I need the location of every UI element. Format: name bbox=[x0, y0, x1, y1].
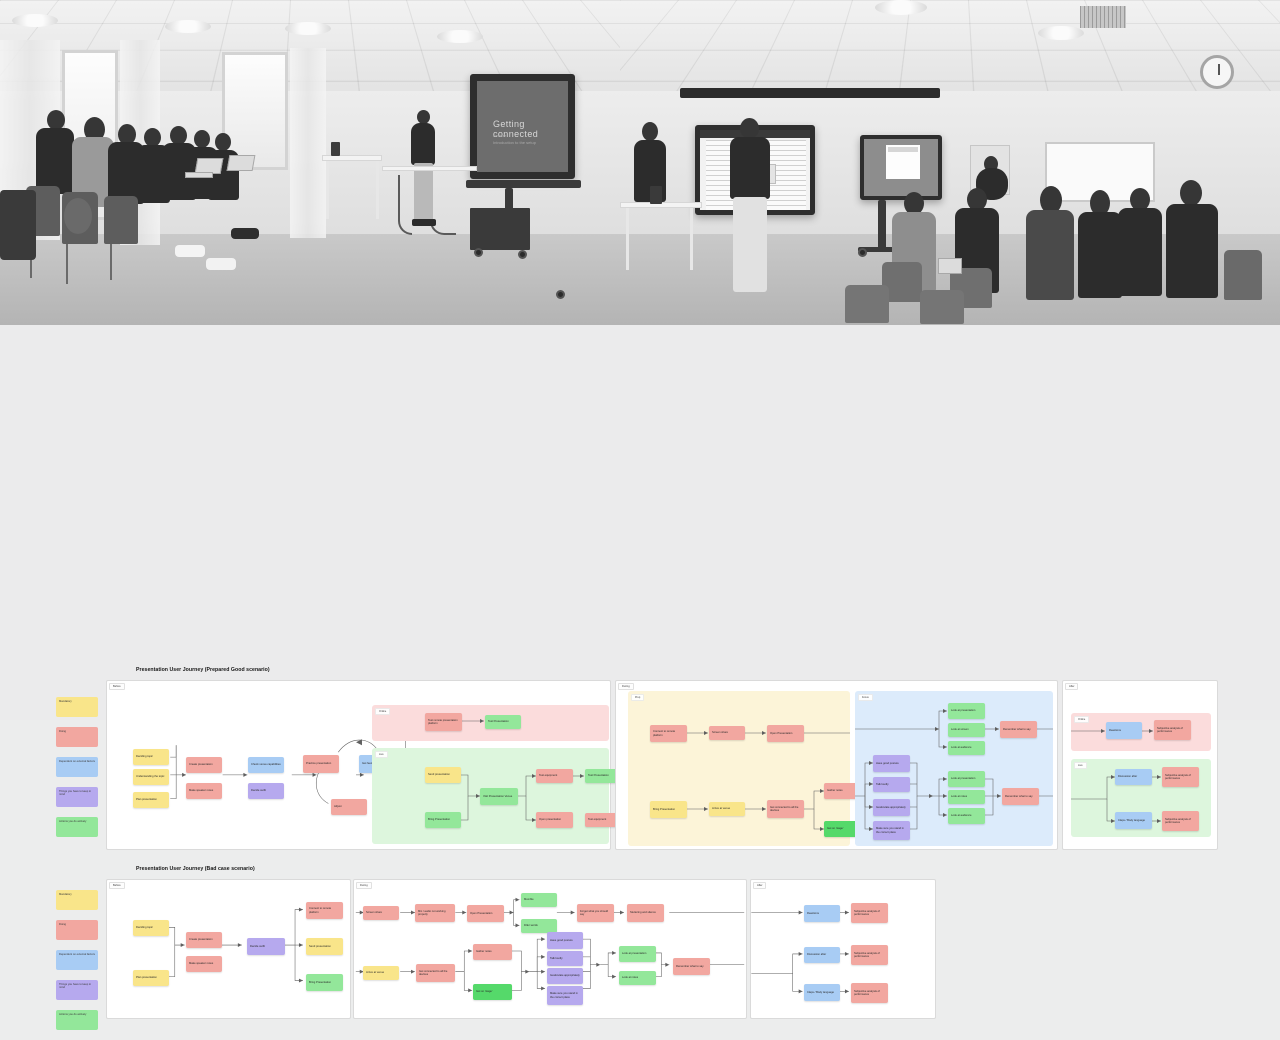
node-screen-share[interactable]: Screen share bbox=[363, 906, 399, 920]
node-subjective-analysis[interactable]: Subjective analysis of performance bbox=[1162, 811, 1199, 831]
node-claps-body-language[interactable]: Claps / Body language bbox=[804, 984, 840, 1001]
node-claps-body-language[interactable]: Claps / Body language bbox=[1115, 812, 1152, 829]
panel-tag-before: Before bbox=[109, 683, 125, 690]
board-title-bad: Presentation User Journey (Bad case scen… bbox=[136, 866, 255, 872]
panel-during-good: During Prep Connect to remote platform S… bbox=[615, 680, 1058, 850]
node-reactions[interactable]: Reactions bbox=[1106, 722, 1142, 739]
node-forget-what-to-say[interactable]: Forget what you should say bbox=[577, 904, 614, 922]
zone-tag-prep: Prep bbox=[631, 694, 644, 701]
node-remember-what-to-say[interactable]: Remember what to say bbox=[673, 958, 710, 975]
node-reactions[interactable]: Reactions bbox=[804, 905, 840, 922]
node-talk-loudly[interactable]: Talk loudly bbox=[547, 951, 583, 966]
legend-chip-mandatory: Mandatory bbox=[56, 697, 98, 717]
panel-tag-during: During bbox=[618, 683, 634, 690]
node-bring-presentation[interactable]: Bring Presentation bbox=[650, 801, 687, 818]
node-create-presentation[interactable]: Create presentation bbox=[186, 757, 222, 773]
diagram-canvas: Mandatory Doing Dependent on external fa… bbox=[0, 325, 1280, 720]
node-look-at-presentation[interactable]: Look at presentation bbox=[619, 946, 656, 962]
panel-after-bad: After Reactions Subjective analysis of p… bbox=[750, 879, 936, 1019]
legend-chip-doing: Doing bbox=[56, 920, 98, 940]
node-get-connected-devices[interactable]: Get connected to all the devices bbox=[767, 800, 804, 818]
zone-tag-live: Live bbox=[375, 751, 388, 758]
zone-live-before: Live Send presentation Bring Presentatio… bbox=[372, 748, 609, 844]
node-test-remote-platform[interactable]: Test remote presentation platform bbox=[425, 713, 462, 731]
board-title-good: Presentation User Journey (Prepared Good… bbox=[136, 667, 270, 673]
node-create-presentation[interactable]: Create presentation bbox=[186, 932, 222, 948]
ceiling bbox=[620, 0, 1280, 101]
node-bring-presentation[interactable]: Bring Presentation bbox=[425, 812, 461, 828]
node-mic-audio-not-working[interactable]: Mic / audio not working properly bbox=[415, 904, 455, 922]
interactive-whiteboard: Getting connected LectureIntroduction to… bbox=[470, 74, 575, 179]
node-look-at-screen[interactable]: Look at screen bbox=[948, 723, 985, 737]
node-open-presentation[interactable]: Open Presentation bbox=[467, 905, 504, 922]
node-visit-presentation-venue[interactable]: Visit Presentation Venue bbox=[480, 788, 518, 805]
node-decide-outfit[interactable]: Decide outfit bbox=[248, 783, 284, 799]
node-have-good-posture[interactable]: Have good posture bbox=[873, 755, 910, 772]
legend-chip-mandatory: Mandatory bbox=[56, 890, 98, 910]
node-practice-presentation[interactable]: Practice presentation bbox=[303, 755, 339, 773]
classroom-presentation-photo-right bbox=[620, 0, 1280, 325]
panel-tag-after: After bbox=[1065, 683, 1078, 690]
node-gesticulate-appropriately[interactable]: Gesticulate appropriately bbox=[547, 968, 583, 984]
node-subjective-analysis[interactable]: Subjective analysis of performance bbox=[851, 983, 888, 1003]
node-deciding-topic[interactable]: Deciding topic bbox=[133, 749, 169, 765]
classroom-presentation-photo-left: Getting connected LectureIntroduction to… bbox=[0, 0, 620, 325]
presenter-body bbox=[730, 137, 770, 199]
node-get-on-stage[interactable]: Get on 'stage' bbox=[473, 984, 512, 1000]
node-stand-correct-place[interactable]: Make sure you stand in the correct place bbox=[547, 986, 583, 1005]
node-look-at-presentation[interactable]: Look at presentation bbox=[948, 703, 985, 719]
node-bring-presentation[interactable]: Bring Presentation bbox=[306, 974, 343, 991]
node-remember-what-to-say[interactable]: Remember what to say bbox=[1002, 788, 1039, 805]
panel-tag-after: After bbox=[753, 882, 766, 889]
node-plan-presentation[interactable]: Plan presentation bbox=[133, 792, 169, 808]
node-look-at-presentation[interactable]: Look at presentation bbox=[948, 771, 985, 787]
node-connect-remote-platform[interactable]: Connect to remote platform bbox=[650, 725, 687, 742]
zone-tag-online: Online bbox=[375, 708, 390, 715]
node-discussion-after[interactable]: Discussion after bbox=[804, 947, 840, 963]
node-open-presentation[interactable]: Open presentation bbox=[536, 812, 573, 828]
wall-clock bbox=[1200, 55, 1234, 89]
legend-chip-dependent: Dependent on external factors bbox=[56, 757, 98, 777]
node-screen-share[interactable]: Screen share bbox=[709, 726, 745, 740]
node-remember-what-to-say[interactable]: Remember what to say bbox=[1000, 721, 1037, 738]
zone-prep: Prep Connect to remote platform Screen s… bbox=[628, 691, 850, 846]
node-look-at-notes[interactable]: Look at notes bbox=[948, 790, 985, 804]
node-plan-presentation[interactable]: Plan presentation bbox=[133, 970, 169, 986]
zone-focus: Focus Look at presentation bbox=[855, 691, 1053, 846]
legend-chip-dependent: Dependent on external factors bbox=[56, 950, 98, 970]
presenter-head bbox=[417, 110, 430, 124]
legend-chip-active-actions: Actions you do actively bbox=[56, 817, 98, 837]
legend-chip-keep-in-mind: Things you have to keep in mind bbox=[56, 787, 98, 807]
node-make-speaker-notes[interactable]: Make speaker notes bbox=[186, 783, 222, 799]
node-subjective-analysis[interactable]: Subjective analysis of performance bbox=[1154, 720, 1191, 740]
photo-strip: Getting connected LectureIntroduction to… bbox=[0, 0, 1280, 325]
panel-during-bad: During bbox=[353, 879, 747, 1019]
node-gesticulate-appropriately[interactable]: Gesticulate appropriately bbox=[873, 799, 910, 816]
node-connect-remote-platform[interactable]: Connect to remote platform bbox=[306, 902, 343, 919]
legend-chip-doing: Doing bbox=[56, 727, 98, 747]
panel-tag-before: Before bbox=[109, 882, 125, 889]
node-deciding-topic[interactable]: Deciding topic bbox=[133, 920, 169, 936]
node-adjust[interactable]: Adjust bbox=[331, 799, 367, 815]
node-talk-loudly[interactable]: Talk loudly bbox=[873, 777, 910, 792]
node-gather-notes[interactable]: Gather notes bbox=[473, 944, 512, 960]
node-test-presentation[interactable]: Test Presentation bbox=[485, 715, 521, 729]
presenter-body bbox=[411, 123, 435, 165]
presenter-head bbox=[740, 118, 759, 139]
panel-after-good: After Online Reactions Subjective analys… bbox=[1062, 680, 1218, 850]
zone-online-after: Online Reactions Subjective analysis of … bbox=[1071, 713, 1211, 751]
zone-tag-focus: Focus bbox=[858, 694, 873, 701]
node-stand-correct-place[interactable]: Make sure you stand in the correct place bbox=[873, 821, 910, 840]
zone-live-after: Live Discussion after Subjective analysi… bbox=[1071, 759, 1211, 837]
node-decide-outfit[interactable]: Decide outfit bbox=[247, 938, 285, 955]
node-make-speaker-notes[interactable]: Make speaker notes bbox=[186, 956, 222, 972]
panel-tag-during: During bbox=[356, 882, 372, 889]
node-filler-words[interactable]: Filler words bbox=[521, 919, 557, 933]
node-check-venue-capabilities[interactable]: Check venue capabilities bbox=[248, 757, 284, 773]
presentation-display-secondary bbox=[860, 135, 942, 200]
node-arrive-at-venue[interactable]: Arrive at venue bbox=[363, 966, 399, 980]
panel-before-bad: Before Deciding topic Plan presentation … bbox=[106, 879, 351, 1019]
board-subtitle-text: LectureIntroduction to the setup bbox=[493, 133, 536, 147]
node-get-connected-devices[interactable]: Get connected to all the devices bbox=[416, 964, 455, 982]
node-look-at-audience[interactable]: Look at audience bbox=[948, 741, 985, 755]
node-test-equipment[interactable]: Test equipment bbox=[536, 769, 573, 783]
node-subjective-analysis[interactable]: Subjective analysis of performance bbox=[851, 903, 888, 923]
node-understanding-topic[interactable]: Understanding the topic bbox=[133, 769, 169, 785]
zone-tag-live: Live bbox=[1074, 762, 1087, 769]
node-stuttering-silence[interactable]: Stuttering and silence bbox=[627, 904, 664, 922]
panel-before-good: Before Deciding topic Understanding the … bbox=[106, 680, 611, 850]
node-open-presentation[interactable]: Open Presentation bbox=[767, 725, 804, 742]
node-subjective-analysis[interactable]: Subjective analysis of performance bbox=[1162, 767, 1199, 787]
node-look-at-audience[interactable]: Look at audience bbox=[948, 808, 985, 824]
node-discussion-after[interactable]: Discussion after bbox=[1115, 769, 1152, 785]
node-look-at-notes[interactable]: Look at notes bbox=[619, 971, 656, 985]
legend-chip-active-actions: Actions you do actively bbox=[56, 1010, 98, 1030]
zone-online-before: Online Test remote presentation platform… bbox=[372, 705, 609, 741]
node-subjective-analysis[interactable]: Subjective analysis of performance bbox=[851, 945, 888, 965]
legend-chip-keep-in-mind: Things you have to keep in mind bbox=[56, 980, 98, 1000]
legend-bad: Mandatory Doing Dependent on external fa… bbox=[56, 890, 98, 1040]
node-send-presentation[interactable]: Send presentation bbox=[306, 938, 343, 955]
node-mumble[interactable]: Mumble bbox=[521, 893, 557, 907]
node-arrive-at-venue[interactable]: Arrive at venue bbox=[709, 802, 745, 816]
node-send-presentation[interactable]: Send presentation bbox=[425, 767, 461, 783]
node-have-good-posture[interactable]: Have good posture bbox=[547, 932, 583, 949]
